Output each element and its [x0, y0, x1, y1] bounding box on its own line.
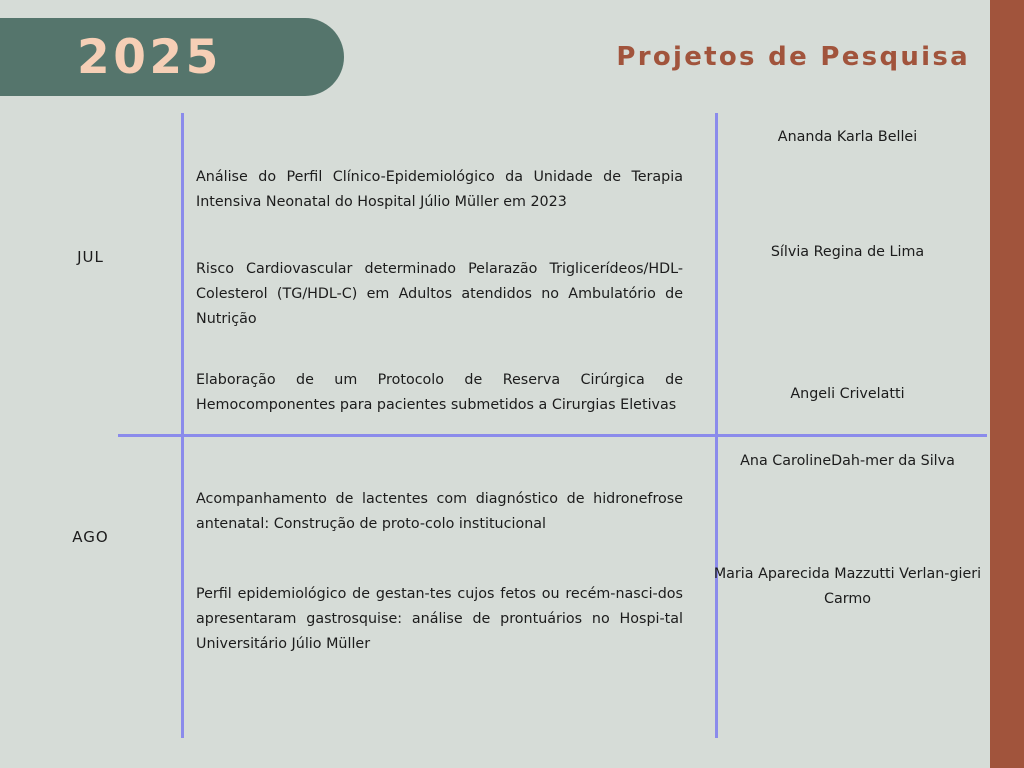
project-title: Análise do Perfil Clínico-Epidemiológico…: [181, 165, 699, 215]
project-row: Risco Cardiovascular determinado Pelaraz…: [181, 215, 990, 332]
project-title: Elaboração de um Protocolo de Reserva Ci…: [181, 368, 699, 418]
project-row: Acompanhamento de lactentes com diagnóst…: [181, 437, 990, 537]
project-row: Análise do Perfil Clínico-Epidemiológico…: [181, 113, 990, 215]
right-accent-bar: [990, 0, 1024, 768]
project-title: Acompanhamento de lactentes com diagnóst…: [181, 487, 699, 537]
project-author: Maria Aparecida Mazzutti Verlan-gieri Ca…: [699, 537, 990, 612]
month-section-jul: Análise do Perfil Clínico-Epidemiológico…: [181, 113, 990, 418]
page-title: Projetos de Pesquisa: [616, 42, 970, 72]
project-author: Ananda Karla Bellei: [699, 113, 990, 150]
project-author: Angeli Crivelatti: [699, 332, 990, 407]
project-author: Sílvia Regina de Lima: [699, 215, 990, 265]
slide-canvas: 2025 Projetos de Pesquisa JUL AGO Anális…: [0, 0, 1024, 768]
project-author: Ana CarolineDah-mer da Silva: [699, 437, 990, 474]
project-row: Perfil epidemiológico de gestan-tes cujo…: [181, 537, 990, 657]
month-label-ago: AGO: [0, 528, 181, 546]
year-badge: 2025: [0, 18, 344, 96]
month-section-ago: Acompanhamento de lactentes com diagnóst…: [181, 437, 990, 657]
year-label: 2025: [77, 34, 222, 81]
project-title: Perfil epidemiológico de gestan-tes cujo…: [181, 582, 699, 657]
project-title: Risco Cardiovascular determinado Pelaraz…: [181, 257, 699, 332]
project-row: Elaboração de um Protocolo de Reserva Ci…: [181, 332, 990, 418]
month-label-jul: JUL: [0, 248, 181, 266]
